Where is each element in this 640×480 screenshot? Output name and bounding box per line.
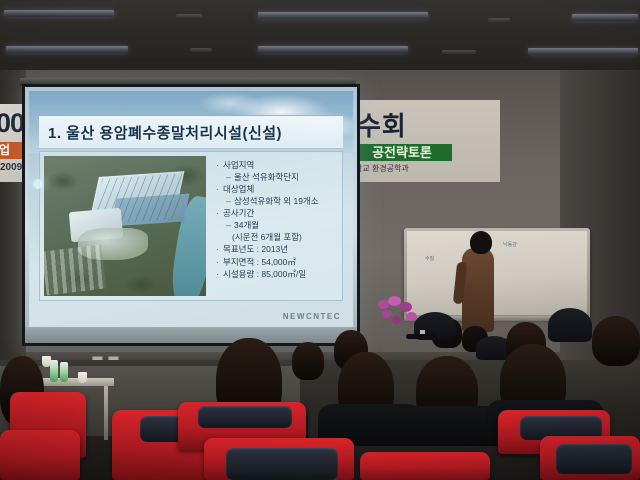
- audience-member: [592, 316, 640, 366]
- whiteboard-surface: 수질 낙동강: [407, 231, 587, 315]
- slide-bullet-list: ·사업지역 –울산 석유화학단지 ·대상업체 –삼성석유화학 외 19개소 ·공…: [206, 152, 342, 300]
- bullet-text: 사업지역: [223, 160, 254, 170]
- bullet-text: 삼성석유화학 외 19개소: [234, 196, 319, 206]
- auditorium-seat: [0, 430, 80, 480]
- slide-bullet: ·공사기간: [214, 207, 338, 219]
- flower-petal: [392, 316, 401, 324]
- slide-bullet: –삼성석유화학 외 19개소: [214, 195, 338, 207]
- bullet-text: 울산 석유화학단지: [234, 172, 299, 182]
- slide-bullet: ·부지면적 : 54,000㎡: [214, 256, 338, 268]
- whiteboard-writing: 낙동강: [503, 241, 517, 248]
- water-bottle: [50, 360, 58, 382]
- slide-bullet: ·사업지역: [214, 159, 338, 171]
- bullet-text: 목표년도 : 2013년: [223, 244, 288, 254]
- banner-left-top-text: 00: [0, 110, 24, 137]
- flower-petal: [400, 302, 412, 312]
- cap-logo-tag: [420, 330, 425, 334]
- slide-company-logo: NEWCNTEC: [283, 312, 341, 321]
- screen-bottom-band: [25, 327, 357, 343]
- auditorium-photo: 00 업 2009 수회 공전략토론 학교 환경공학과 1. 울산 용암폐수종말…: [0, 0, 640, 480]
- ceiling-light: [6, 46, 128, 53]
- bullet-text: 시설용량 : 85,000㎡/일: [223, 269, 306, 279]
- slide-title-band: 1. 울산 용암폐수종말처리시설(신설): [39, 115, 343, 149]
- photo-perimeter-wall: [44, 245, 106, 296]
- slide-bullet: –울산 석유화학단지: [214, 171, 338, 183]
- ceiling-light: [258, 46, 408, 53]
- banner-left-year: 2009: [0, 162, 22, 173]
- ceiling-vent: [176, 14, 202, 18]
- table-leg: [104, 386, 108, 440]
- presenter: [462, 248, 494, 332]
- bullet-text: 부지면적 : 54,000㎡: [223, 257, 296, 267]
- projection-screen: 1. 울산 용암폐수종말처리시설(신설) ·사업지역: [22, 84, 360, 346]
- banner-right-title: 수회: [357, 113, 407, 139]
- whiteboard: 수질 낙동강: [404, 228, 590, 318]
- audience-cap: [548, 308, 592, 342]
- banner-right-subtitle: 학교 환경공학과: [355, 163, 409, 174]
- slide-bullet: ·시설용량 : 85,000㎡/일: [214, 268, 338, 280]
- water-bottle: [60, 362, 68, 382]
- projector-hotspot: [33, 179, 43, 189]
- whiteboard-writing: 수질: [425, 255, 434, 262]
- ceiling-light: [4, 10, 114, 17]
- banner-right-green-box: 공전략토론: [352, 144, 452, 161]
- bullet-text: 공사기간: [223, 208, 254, 218]
- slide-body: ·사업지역 –울산 석유화학단지 ·대상업체 –삼성석유화학 외 19개소 ·공…: [39, 151, 343, 301]
- seat-backrest: [198, 406, 292, 428]
- ceiling-vent: [442, 50, 476, 54]
- slide-aerial-photo: [44, 156, 206, 296]
- banner-right: 수회 공전략토론 학교 환경공학과: [352, 100, 500, 182]
- slide-title: 1. 울산 용암폐수종말처리시설(신설): [39, 122, 282, 143]
- slide-bullet: ·목표년도 : 2013년: [214, 243, 338, 255]
- slide-bullet: –34개월: [214, 219, 338, 231]
- slide-bullet: (시운전 6개월 포함): [214, 231, 338, 243]
- seat-backrest: [556, 444, 632, 474]
- ceiling-light: [572, 14, 638, 21]
- ceiling: [0, 0, 640, 78]
- presenter-head: [470, 231, 492, 254]
- ceiling-light: [258, 12, 428, 19]
- audience-member: [292, 342, 324, 380]
- slide-bullet: ·대상업체: [214, 183, 338, 195]
- presentation-slide: 1. 울산 용암폐수종말처리시설(신설) ·사업지역: [29, 91, 353, 327]
- bullet-text: (시운전 6개월 포함): [232, 232, 302, 242]
- ceiling-vent: [190, 48, 212, 52]
- seat-backrest: [226, 448, 338, 480]
- ceiling-light: [528, 48, 638, 55]
- auditorium-seat: [360, 452, 490, 480]
- flower-petal: [382, 310, 392, 318]
- flower-petal: [388, 296, 401, 306]
- paper-cup: [78, 372, 87, 383]
- green-swoosh-graphic: [407, 100, 500, 182]
- paper-cup: [42, 356, 51, 367]
- bullet-text: 대상업체: [223, 184, 254, 194]
- ceiling-vent: [488, 18, 510, 22]
- cap-brim: [406, 334, 436, 339]
- screen-surface: 1. 울산 용암폐수종말처리시설(신설) ·사업지역: [25, 87, 357, 343]
- bullet-text: 34개월: [234, 220, 259, 230]
